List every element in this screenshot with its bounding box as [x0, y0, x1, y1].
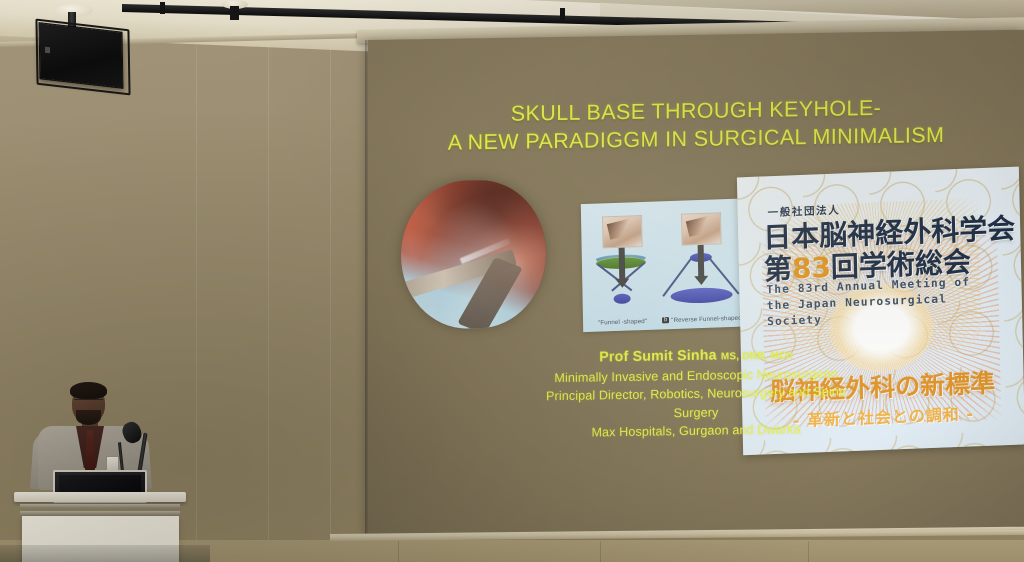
endoscopic-surgery-photo [401, 179, 546, 329]
projection-screen: SKULL BASE THROUGH KEYHOLE- A NEW PARADI… [368, 30, 1024, 540]
funnel-left-caption-text: "Funnel -shaped" [598, 318, 647, 327]
reverse-funnel-trajectory-arrow [697, 245, 704, 278]
truss-hanger [560, 8, 565, 20]
presenter-credits: Prof Sumit Sinha MS, DNB, MCh Minimally … [368, 341, 1024, 446]
poster-english-title: The 83rd Annual Meeting of the Japan Neu… [766, 273, 1007, 331]
figure-panel-badge-b: b [662, 317, 669, 323]
funnel-right-caption-text: "Reverse Funnel-shaped" [671, 315, 741, 325]
presenter-degrees: MS, DNB, MCh [721, 350, 793, 362]
funnel-target-area [614, 293, 631, 304]
funnel-trajectory-arrow [618, 248, 625, 281]
podium-ridge [20, 511, 180, 515]
reverse-funnel-target-area [670, 287, 732, 304]
funnel-concept-figure: "Funnel -shaped" b"Reverse Funnel-shaped… [581, 199, 741, 332]
reverse-funnel-approach-thumbnail [681, 212, 722, 245]
presenter-name-badge [106, 456, 119, 471]
projected-slide: SKULL BASE THROUGH KEYHOLE- A NEW PARADI… [368, 30, 1024, 540]
slide-title-line-1: SKULL BASE THROUGH KEYHOLE- [511, 96, 881, 126]
funnel-approach-thumbnail [602, 215, 643, 248]
presenter-name: Prof Sumit Sinha [599, 348, 717, 366]
wall-seam [330, 46, 331, 562]
lower-wall-seam [398, 541, 399, 562]
reverse-funnel-shaped-panel: b"Reverse Funnel-shaped" [660, 199, 741, 330]
presenter-glasses [74, 399, 103, 406]
podium-area [0, 370, 200, 562]
lower-wall-seam [600, 541, 601, 562]
ceiling-speaker [39, 22, 124, 89]
floor-shadow [0, 545, 210, 562]
slide-title-line-2: A NEW PARADIGGM IN SURGICAL MINIMALISM [368, 120, 1024, 159]
truss-hanger [160, 2, 165, 14]
presentation-photo-scene: SKULL BASE THROUGH KEYHOLE- A NEW PARADI… [0, 0, 1024, 562]
wall-seam [268, 46, 269, 562]
presenter-hair [70, 382, 107, 399]
speaker-indicator-icon [45, 47, 50, 54]
funnel-left-caption: "Funnel -shaped" [583, 317, 662, 327]
funnel-shaped-panel: "Funnel -shaped" [581, 201, 662, 332]
podium-ridge [20, 504, 180, 508]
truss-clamp [230, 6, 239, 20]
slide-title: SKULL BASE THROUGH KEYHOLE- A NEW PARADI… [368, 92, 1024, 159]
lower-wall-seam [808, 541, 809, 562]
presenter-beard [76, 410, 101, 425]
podium-top-surface [14, 492, 186, 502]
funnel-right-caption: b"Reverse Funnel-shaped" [662, 315, 741, 325]
